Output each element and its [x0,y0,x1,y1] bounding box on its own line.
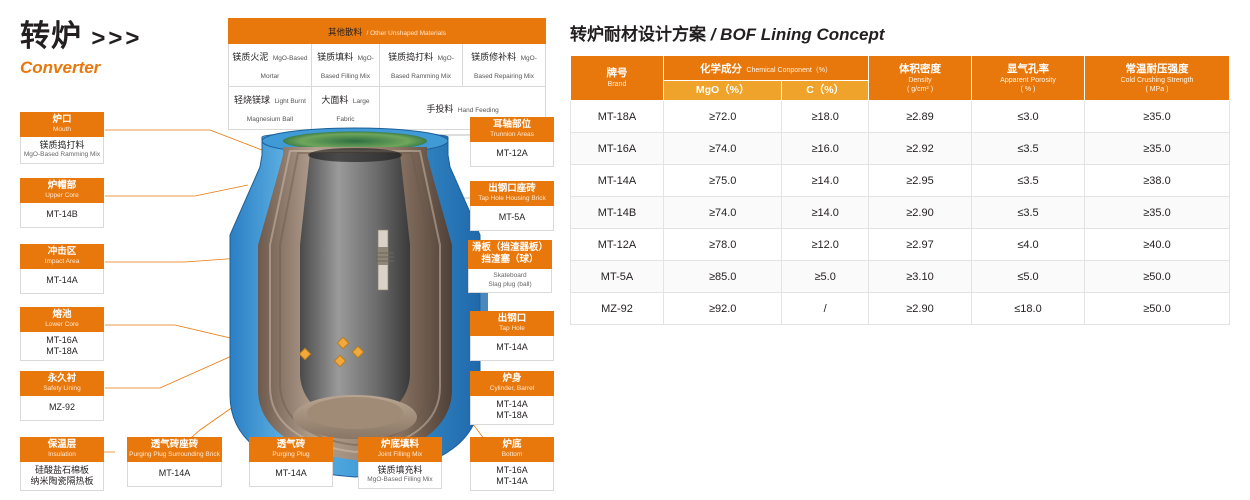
arrows-decoration: >>> [91,25,142,52]
callout-taphole-housing-brick[interactable]: 出钢口座砖 Tap Hole Housing Brick MT-5A [470,181,554,231]
cell-density: ≥2.95 [869,165,972,197]
cell-mgo: ≥72.0 [664,101,782,133]
unshaped-header-cell: 其他散料 / Other Unshaped Materials [229,19,546,44]
lining-concept-title-en: / BOF Lining Concept [711,25,885,44]
callout-tap-hole-head: 出钢口 Tap Hole [470,311,554,336]
callout-bottom[interactable]: 炉底 Bottom MT-16A MT-14A [470,437,554,491]
cell-carbon: ≥14.0 [782,197,869,229]
cell-carbon: ≥12.0 [782,229,869,261]
lining-concept-title-cn: 转炉耐材设计方案 [570,25,706,44]
col-mgo: MgO（%） [664,81,782,101]
vessel-inner-cavity [300,153,410,425]
unshaped-cell: 镁质填料 MgO-Based Filling Mix [311,44,379,87]
cell-density: ≥2.92 [869,133,972,165]
callout-insulation[interactable]: 保温层 Insulation 硅酸盐石棉板 纳米陶瓷隔热板 [20,437,104,491]
table-row: MZ-92 ≥92.0 / ≥2.90 ≤18.0 ≥50.0 [571,293,1230,325]
callout-barrel-head: 炉身 Cylinder, Barrel [470,371,554,396]
callout-safety-lining[interactable]: 永久衬 Safety Lining MZ-92 [20,371,104,421]
callout-insulation-body: 硅酸盐石棉板 纳米陶瓷隔热板 [20,462,104,491]
callout-impact-area-body: MT-14A [20,269,104,294]
callout-purging-plug-surrounding-body: MT-14A [127,462,222,487]
cell-mgo: ≥74.0 [664,197,782,229]
cell-mgo: ≥85.0 [664,261,782,293]
cavity-top-ellipse [308,148,402,162]
cell-porosity: ≤3.5 [972,165,1085,197]
cell-porosity: ≤5.0 [972,261,1085,293]
callout-slide-gate-head: 滑板（挡渣器板） 挡渣塞（球） [468,240,552,269]
col-density: 体积密度 Density ( g/cm² ) [869,56,972,101]
table-row: MT-14A ≥75.0 ≥14.0 ≥2.95 ≤3.5 ≥38.0 [571,165,1230,197]
cell-brand: MT-5A [571,261,664,293]
callout-purging-plug[interactable]: 透气砖 Purging Plug MT-14A [249,437,333,487]
callout-trunnion[interactable]: 耳轴部位 Trunnion Areas MT-12A [470,117,554,167]
callout-barrel[interactable]: 炉身 Cylinder, Barrel MT-14A MT-18A [470,371,554,425]
col-ccs: 常温耐压强度 Cold Crushing Strength ( MPa ) [1085,56,1230,101]
callout-lower-cone-body: MT-16A MT-18A [20,332,104,361]
cell-ccs: ≥35.0 [1085,197,1230,229]
cell-brand: MT-14A [571,165,664,197]
callout-purging-plug-body: MT-14A [249,462,333,487]
col-chemical: 化学成分 Chemical Conponent（%） [664,56,869,81]
col-porosity: 显气孔率 Apparent Porosity ( % ) [972,56,1085,101]
cell-carbon: ≥18.0 [782,101,869,133]
brand-cn: 转炉 >>> [20,20,142,56]
cell-density: ≥2.89 [869,101,972,133]
callout-safety-lining-body: MZ-92 [20,396,104,421]
callout-upper-cone[interactable]: 炉帽部 Upper Core MT-14B [20,178,104,228]
cell-brand: MT-16A [571,133,664,165]
cell-porosity: ≤3.0 [972,101,1085,133]
callout-slide-gate[interactable]: 滑板（挡渣器板） 挡渣塞（球） Skateboard Slag plug (ba… [468,240,552,293]
vessel-bottom-inner [307,397,403,429]
unshaped-header-cn: 其他散料 [328,27,362,37]
unshaped-cell: 镁质修补料 MgO-Based Repairing Mix [463,44,546,87]
page-title: 转炉 >>> Converter [20,20,142,78]
cell-density: ≥2.97 [869,229,972,261]
callout-impact-area[interactable]: 冲击区 Impact Area MT-14A [20,244,104,294]
cell-mgo: ≥92.0 [664,293,782,325]
cell-mgo: ≥75.0 [664,165,782,197]
callout-mouth-head: 炉口 Mouth [20,112,104,137]
cell-mgo: ≥78.0 [664,229,782,261]
cell-density: ≥2.90 [869,293,972,325]
col-brand: 牌号 Brand [571,56,664,101]
cell-carbon: ≥14.0 [782,165,869,197]
callout-barrel-body: MT-14A MT-18A [470,396,554,425]
table-row: 镁质火泥 MgO-Based Mortar 镁质填料 MgO-Based Fil… [229,44,546,87]
callout-upper-cone-body: MT-14B [20,203,104,228]
callout-lower-cone-head: 熔池 Lower Core [20,307,104,332]
callout-insulation-head: 保温层 Insulation [20,437,104,462]
lining-concept-title: 转炉耐材设计方案 / BOF Lining Concept [570,20,885,45]
cell-carbon: ≥16.0 [782,133,869,165]
callout-joint-filling-body: 镁质填充料 MgO-Based Filling Mix [358,462,442,489]
cell-brand: MZ-92 [571,293,664,325]
callout-bottom-head: 炉底 Bottom [470,437,554,462]
table-row: MT-16A ≥74.0 ≥16.0 ≥2.92 ≤3.5 ≥35.0 [571,133,1230,165]
callout-taphole-housing-brick-head: 出钢口座砖 Tap Hole Housing Brick [470,181,554,206]
cell-density: ≥3.10 [869,261,972,293]
brand-en: Converter [20,58,142,78]
table-row: MT-14B ≥74.0 ≥14.0 ≥2.90 ≤3.5 ≥35.0 [571,197,1230,229]
cell-carbon: ≥5.0 [782,261,869,293]
unshaped-cell: 镁质捣打料 MgO-Based Ramming Mix [380,44,463,87]
cell-porosity: ≤4.0 [972,229,1085,261]
cell-brand: MT-14B [571,197,664,229]
unshaped-header-en: / Other Unshaped Materials [366,30,445,37]
spec-table: 牌号 Brand 化学成分 Chemical Conponent（%） 体积密度… [570,55,1230,325]
cell-ccs: ≥40.0 [1085,229,1230,261]
callout-mouth[interactable]: 炉口 Mouth 镁质捣打料 MgO-Based Ramming Mix [20,112,104,164]
callout-upper-cone-head: 炉帽部 Upper Core [20,178,104,203]
cell-ccs: ≥38.0 [1085,165,1230,197]
callout-tap-hole[interactable]: 出钢口 Tap Hole MT-14A [470,311,554,361]
table-row: MT-12A ≥78.0 ≥12.0 ≥2.97 ≤4.0 ≥40.0 [571,229,1230,261]
callout-trunnion-body: MT-12A [470,142,554,167]
table-row: MT-5A ≥85.0 ≥5.0 ≥3.10 ≤5.0 ≥50.0 [571,261,1230,293]
cell-carbon: / [782,293,869,325]
cell-ccs: ≥50.0 [1085,261,1230,293]
col-carbon: C（%） [782,81,869,101]
callout-lower-cone[interactable]: 熔池 Lower Core MT-16A MT-18A [20,307,104,361]
callout-trunnion-head: 耳轴部位 Trunnion Areas [470,117,554,142]
callout-impact-area-head: 冲击区 Impact Area [20,244,104,269]
callout-tap-hole-body: MT-14A [470,336,554,361]
cell-porosity: ≤3.5 [972,133,1085,165]
callout-purging-plug-head: 透气砖 Purging Plug [249,437,333,462]
callout-slide-gate-body: Skateboard Slag plug (ball) [468,269,552,293]
cell-brand: MT-12A [571,229,664,261]
cell-mgo: ≥74.0 [664,133,782,165]
cell-ccs: ≥35.0 [1085,133,1230,165]
callout-taphole-housing-brick-body: MT-5A [470,206,554,231]
callout-mouth-body: 镁质捣打料 MgO-Based Ramming Mix [20,137,104,164]
callout-safety-lining-head: 永久衬 Safety Lining [20,371,104,396]
cell-ccs: ≥50.0 [1085,293,1230,325]
cell-porosity: ≤3.5 [972,197,1085,229]
cell-porosity: ≤18.0 [972,293,1085,325]
table-row: 其他散料 / Other Unshaped Materials [229,19,546,44]
unshaped-cell: 镁质火泥 MgO-Based Mortar [229,44,312,87]
callout-joint-filling-head: 炉底填料 Joint Filling Mix [358,437,442,462]
callout-bottom-body: MT-16A MT-14A [470,462,554,491]
cell-density: ≥2.90 [869,197,972,229]
cell-brand: MT-18A [571,101,664,133]
callout-purging-plug-surrounding-head: 透气砖座砖 Purging Plug Surrounding Brick [127,437,222,462]
callout-purging-plug-surrounding[interactable]: 透气砖座砖 Purging Plug Surrounding Brick MT-… [127,437,222,487]
cell-ccs: ≥35.0 [1085,101,1230,133]
table-header-row: 牌号 Brand 化学成分 Chemical Conponent（%） 体积密度… [571,56,1230,81]
callout-joint-filling[interactable]: 炉底填料 Joint Filling Mix 镁质填充料 MgO-Based F… [358,437,442,489]
table-row: MT-18A ≥72.0 ≥18.0 ≥2.89 ≤3.0 ≥35.0 [571,101,1230,133]
